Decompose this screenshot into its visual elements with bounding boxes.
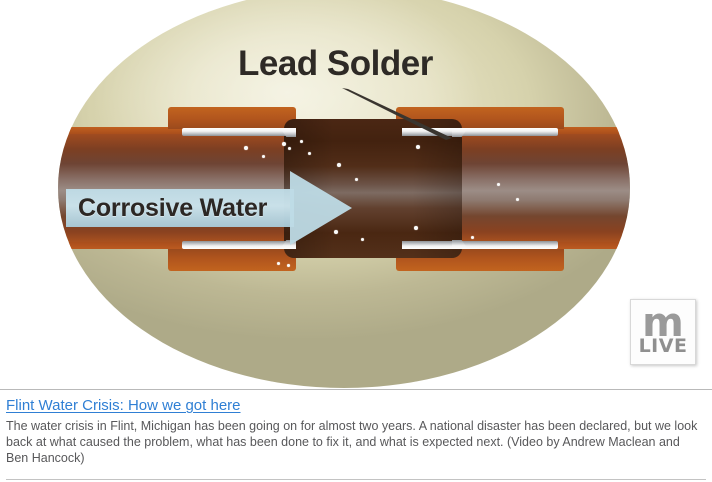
lead-solder-bead-top-left bbox=[182, 128, 292, 136]
solder-particle bbox=[277, 262, 280, 265]
solder-particle bbox=[287, 264, 290, 267]
solder-particle bbox=[262, 155, 265, 158]
solder-particle bbox=[308, 152, 311, 155]
caption-title-link[interactable]: Flint Water Crisis: How we got here bbox=[6, 397, 241, 414]
arrow-head bbox=[290, 171, 352, 245]
lead-solder-bead-bottom-right bbox=[402, 241, 558, 249]
solder-particle bbox=[288, 147, 291, 150]
pipe-collar-top-left bbox=[168, 107, 296, 129]
caption-block: Flint Water Crisis: How we got here The … bbox=[0, 389, 712, 482]
solder-particle bbox=[300, 140, 303, 143]
solder-particle bbox=[282, 142, 286, 146]
lead-solder-pointer-line bbox=[342, 88, 452, 140]
mlive-logo: m LIVE bbox=[630, 299, 696, 365]
solder-particle bbox=[471, 236, 474, 239]
solder-particle bbox=[416, 145, 420, 149]
lead-solder-label: Lead Solder bbox=[238, 44, 433, 84]
mlive-wordmark: LIVE bbox=[631, 337, 695, 356]
video-thumbnail-illustration[interactable]: Corrosive Water Lead Solder m LIVE bbox=[0, 0, 712, 389]
solder-particle bbox=[497, 183, 500, 186]
caption-description: The water crisis in Flint, Michigan has … bbox=[6, 418, 704, 466]
solder-particle bbox=[414, 226, 418, 230]
corrosive-water-arrow: Corrosive Water bbox=[66, 171, 366, 245]
solder-particle bbox=[244, 146, 248, 150]
solder-particle bbox=[337, 163, 341, 167]
solder-particle bbox=[516, 198, 519, 201]
bottom-divider bbox=[6, 479, 706, 480]
pipe-collar-bottom-left bbox=[168, 249, 296, 271]
corrosive-water-label: Corrosive Water bbox=[78, 188, 298, 228]
